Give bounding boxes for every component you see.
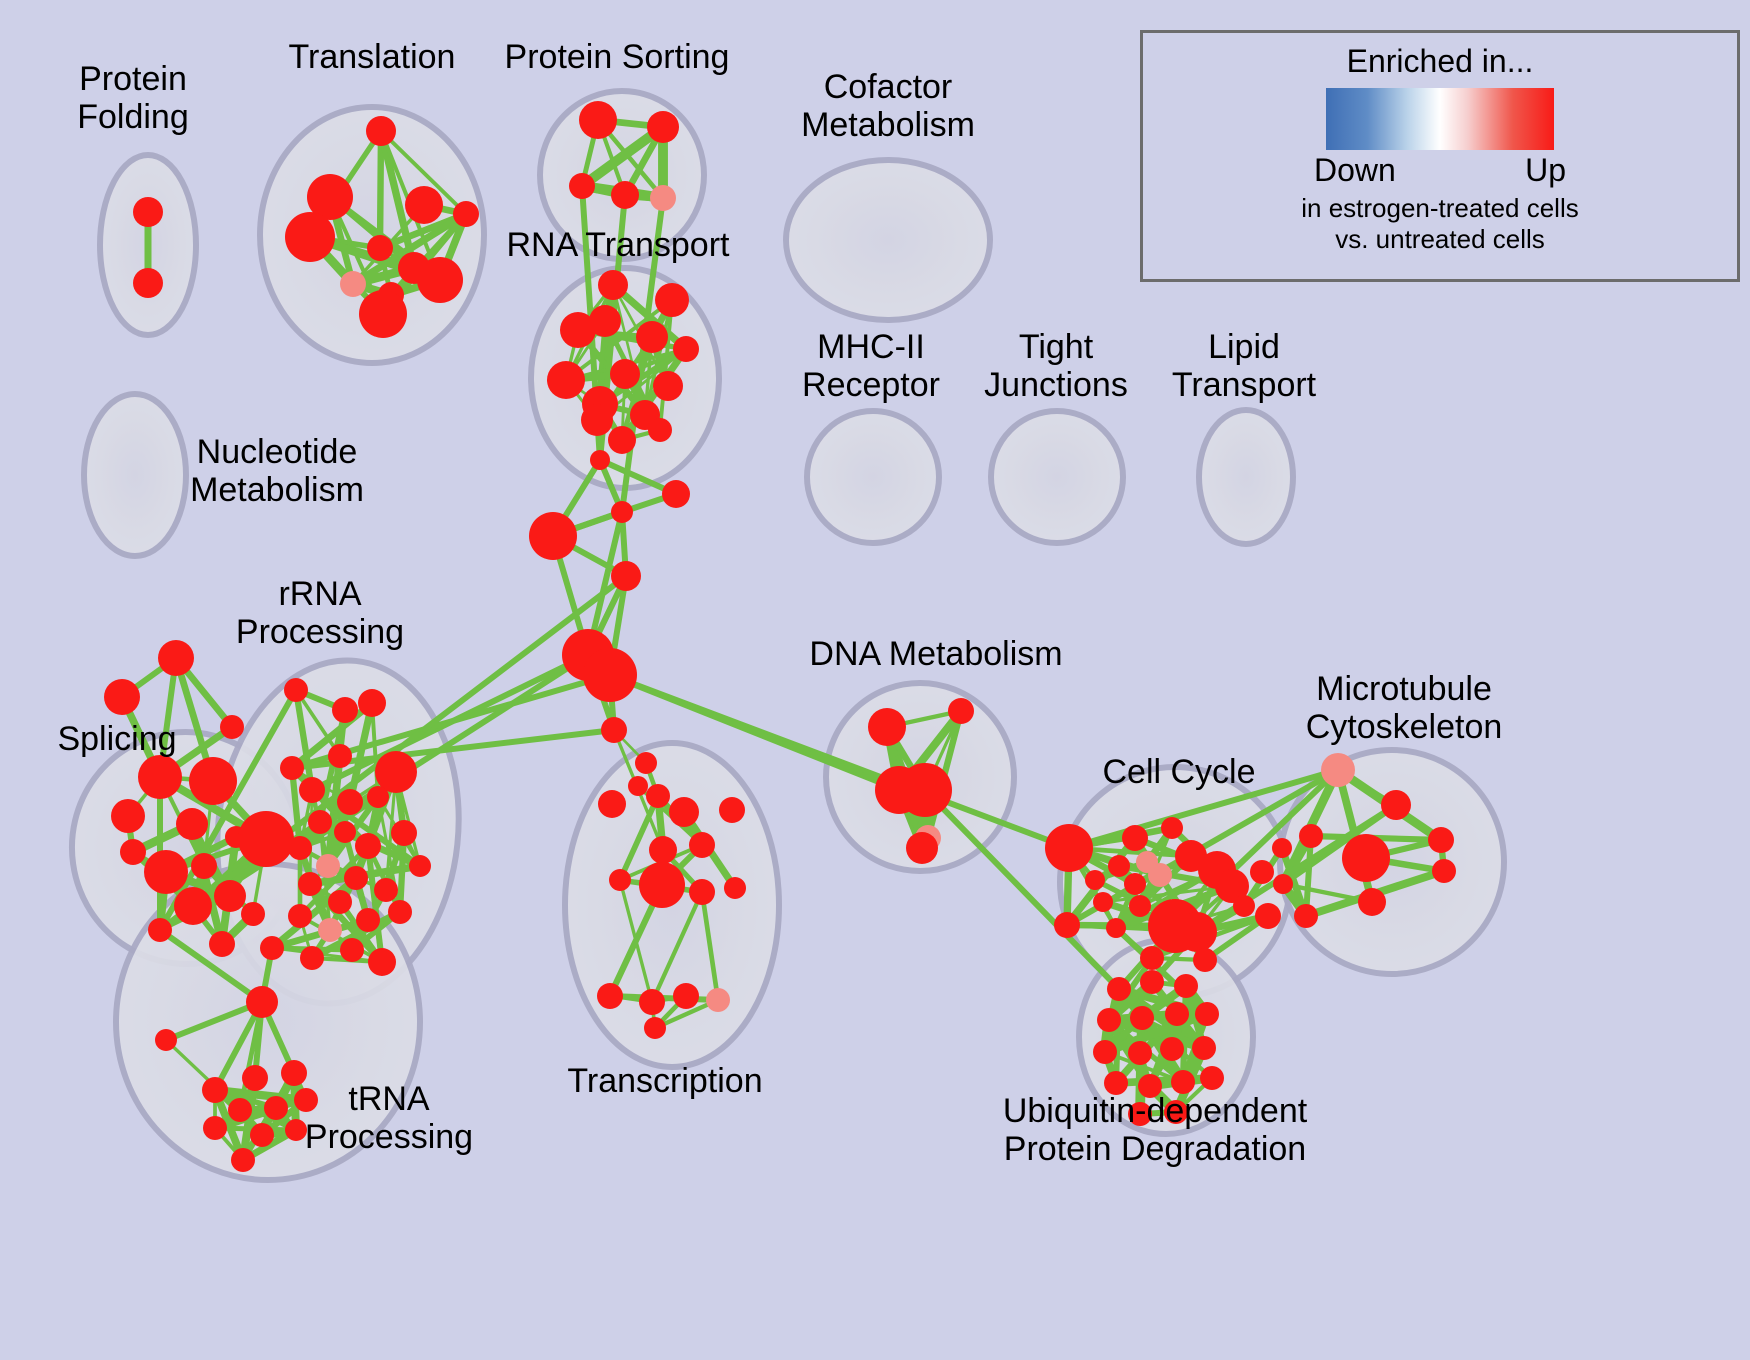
network-node[interactable]	[1097, 1008, 1121, 1032]
network-node[interactable]	[138, 755, 182, 799]
legend-endpoints: Down Up	[1314, 152, 1566, 189]
network-node[interactable]	[868, 708, 906, 746]
network-node[interactable]	[646, 784, 670, 808]
network-node[interactable]	[1093, 892, 1113, 912]
network-node[interactable]	[662, 480, 690, 508]
network-node[interactable]	[1140, 970, 1164, 994]
network-node[interactable]	[453, 201, 479, 227]
network-node[interactable]	[260, 936, 284, 960]
network-node[interactable]	[647, 111, 679, 143]
network-node[interactable]	[608, 426, 636, 454]
network-node[interactable]	[318, 918, 342, 942]
legend-down-label: Down	[1314, 152, 1396, 189]
network-node[interactable]	[189, 757, 237, 805]
network-node[interactable]	[367, 235, 393, 261]
cluster-label-trna-processing: tRNAProcessing	[305, 1080, 473, 1156]
network-node[interactable]	[589, 305, 621, 337]
network-node[interactable]	[689, 879, 715, 905]
network-node[interactable]	[1321, 753, 1355, 787]
network-node[interactable]	[609, 869, 631, 891]
cluster-label-cell-cycle: Cell Cycle	[1102, 753, 1255, 791]
cluster-hull	[84, 394, 186, 556]
network-node[interactable]	[367, 786, 389, 808]
network-node[interactable]	[391, 820, 417, 846]
network-node[interactable]	[280, 756, 304, 780]
network-node[interactable]	[203, 1116, 227, 1140]
network-node[interactable]	[639, 989, 665, 1015]
network-node[interactable]	[1177, 912, 1217, 952]
network-node[interactable]	[155, 1029, 177, 1051]
network-node[interactable]	[344, 866, 368, 890]
network-node[interactable]	[547, 361, 585, 399]
network-node[interactable]	[1192, 1036, 1216, 1060]
network-node[interactable]	[579, 101, 617, 139]
network-node[interactable]	[246, 986, 278, 1018]
network-node[interactable]	[191, 853, 217, 879]
cluster-label-ubiquitin-protein-degradation: Ubiquitin-dependentProtein Degradation	[1003, 1092, 1307, 1168]
network-node[interactable]	[368, 948, 396, 976]
network-node[interactable]	[1428, 827, 1454, 853]
network-node[interactable]	[1250, 860, 1274, 884]
legend-color-gradient	[1326, 88, 1554, 150]
network-node[interactable]	[366, 116, 396, 146]
network-node[interactable]	[340, 271, 366, 297]
network-node[interactable]	[689, 832, 715, 858]
network-node[interactable]	[328, 890, 352, 914]
cluster-hull	[807, 411, 939, 543]
network-node[interactable]	[898, 763, 952, 817]
network-node[interactable]	[209, 931, 235, 957]
network-node[interactable]	[1193, 948, 1217, 972]
network-node[interactable]	[1171, 1070, 1195, 1094]
network-node[interactable]	[214, 880, 246, 912]
legend-up-label: Up	[1525, 152, 1566, 189]
cluster-hull	[1199, 410, 1293, 544]
network-node[interactable]	[409, 855, 431, 877]
network-node[interactable]	[285, 212, 335, 262]
network-node[interactable]	[1381, 790, 1411, 820]
network-node[interactable]	[724, 877, 746, 899]
network-node[interactable]	[673, 983, 699, 1009]
network-node[interactable]	[639, 862, 685, 908]
network-node[interactable]	[337, 789, 363, 815]
cluster-label-microtubule-cytoskeleton: MicrotubuleCytoskeleton	[1306, 670, 1503, 746]
network-node[interactable]	[299, 777, 325, 803]
network-node[interactable]	[673, 336, 699, 362]
network-node[interactable]	[644, 1017, 666, 1039]
network-node[interactable]	[332, 697, 358, 723]
cluster-label-mhc-ii-receptor: MHC-IIReceptor	[802, 328, 940, 404]
enrichment-map-figure: ProteinFoldingTranslationProtein Sorting…	[0, 0, 1750, 1360]
network-node[interactable]	[610, 359, 640, 389]
network-node[interactable]	[628, 776, 648, 796]
network-node[interactable]	[948, 698, 974, 724]
network-node[interactable]	[111, 799, 145, 833]
network-node[interactable]	[1432, 859, 1456, 883]
network-node[interactable]	[1233, 895, 1255, 917]
cluster-label-splicing: Splicing	[57, 720, 176, 758]
cluster-label-protein-folding: ProteinFolding	[77, 60, 189, 136]
network-node[interactable]	[1342, 834, 1390, 882]
legend-box: Enriched in... Down Up in estrogen-treat…	[1140, 30, 1740, 282]
network-node[interactable]	[238, 811, 294, 867]
network-node[interactable]	[1299, 824, 1323, 848]
network-node[interactable]	[405, 186, 443, 224]
network-node[interactable]	[581, 404, 613, 436]
network-node[interactable]	[1130, 1006, 1154, 1030]
network-node[interactable]	[1045, 824, 1093, 872]
network-node[interactable]	[374, 878, 398, 902]
network-node[interactable]	[284, 678, 308, 702]
network-node[interactable]	[597, 983, 623, 1009]
network-node[interactable]	[120, 839, 146, 865]
network-node[interactable]	[1129, 895, 1151, 917]
network-node[interactable]	[355, 833, 381, 859]
network-node[interactable]	[1124, 873, 1146, 895]
network-node[interactable]	[1106, 918, 1126, 938]
network-node[interactable]	[359, 290, 407, 338]
cluster-label-dna-metabolism: DNA Metabolism	[809, 635, 1062, 673]
network-node[interactable]	[706, 988, 730, 1012]
cluster-label-protein-sorting: Protein Sorting	[505, 38, 730, 76]
network-node[interactable]	[340, 938, 364, 962]
network-node[interactable]	[906, 832, 938, 864]
legend-caption-line-1: in estrogen-treated cells	[1301, 193, 1578, 224]
cluster-label-transcription: Transcription	[567, 1062, 762, 1100]
network-node[interactable]	[1160, 1037, 1184, 1061]
network-node[interactable]	[202, 1077, 228, 1103]
network-node[interactable]	[1161, 817, 1183, 839]
network-node[interactable]	[174, 887, 212, 925]
legend-caption-line-2: vs. untreated cells	[1335, 224, 1545, 255]
cluster-label-translation: Translation	[289, 38, 456, 76]
network-node[interactable]	[220, 715, 244, 739]
network-edge	[380, 131, 381, 248]
network-node[interactable]	[649, 836, 677, 864]
network-node[interactable]	[1165, 1002, 1189, 1026]
network-node[interactable]	[1272, 838, 1292, 858]
network-node[interactable]	[1200, 1066, 1224, 1090]
network-node[interactable]	[569, 173, 595, 199]
cluster-hull	[991, 411, 1123, 543]
network-node[interactable]	[288, 836, 312, 860]
network-node[interactable]	[1294, 904, 1318, 928]
network-node[interactable]	[1140, 946, 1164, 970]
cluster-label-rna-transport: RNA Transport	[507, 226, 730, 264]
network-node[interactable]	[328, 744, 352, 768]
network-node[interactable]	[1085, 870, 1105, 890]
network-node[interactable]	[356, 908, 380, 932]
network-node[interactable]	[144, 850, 188, 894]
network-node[interactable]	[648, 418, 672, 442]
network-node[interactable]	[228, 1098, 252, 1122]
network-node[interactable]	[300, 946, 324, 970]
network-node[interactable]	[242, 1065, 268, 1091]
network-node[interactable]	[611, 561, 641, 591]
network-node[interactable]	[281, 1060, 307, 1086]
network-node[interactable]	[288, 904, 312, 928]
network-node[interactable]	[358, 689, 386, 717]
network-node[interactable]	[611, 501, 633, 523]
legend-title: Enriched in...	[1347, 43, 1534, 80]
cluster-label-tight-junctions: TightJunctions	[984, 328, 1128, 404]
network-node[interactable]	[176, 808, 208, 840]
network-node[interactable]	[598, 270, 628, 300]
network-node[interactable]	[611, 181, 639, 209]
network-node[interactable]	[1054, 912, 1080, 938]
network-node[interactable]	[264, 1096, 288, 1120]
network-node[interactable]	[250, 1123, 274, 1147]
network-node[interactable]	[241, 902, 265, 926]
network-node[interactable]	[285, 1119, 307, 1141]
network-node[interactable]	[417, 257, 463, 303]
cluster-label-nucleotide-metabolism: NucleotideMetabolism	[190, 433, 364, 509]
network-node[interactable]	[1093, 1040, 1117, 1064]
network-node[interactable]	[1108, 855, 1130, 877]
network-node[interactable]	[1107, 977, 1131, 1001]
network-node[interactable]	[104, 679, 140, 715]
network-node[interactable]	[133, 268, 163, 298]
network-node[interactable]	[148, 918, 172, 942]
network-node[interactable]	[719, 797, 745, 823]
cluster-hull	[786, 160, 990, 320]
network-node[interactable]	[1122, 825, 1148, 851]
network-node[interactable]	[334, 821, 356, 843]
network-node[interactable]	[388, 900, 412, 924]
network-node[interactable]	[650, 185, 676, 211]
network-node[interactable]	[1174, 974, 1198, 998]
cluster-label-rrna-processing: rRNAProcessing	[236, 575, 404, 651]
network-node[interactable]	[158, 640, 194, 676]
cluster-label-cofactor-metabolism: CofactorMetabolism	[801, 68, 975, 144]
network-node[interactable]	[1255, 903, 1281, 929]
network-node[interactable]	[316, 854, 340, 878]
network-node[interactable]	[598, 790, 626, 818]
network-node[interactable]	[583, 648, 637, 702]
network-node[interactable]	[308, 810, 332, 834]
network-node[interactable]	[590, 450, 610, 470]
network-node[interactable]	[231, 1148, 255, 1172]
network-node[interactable]	[1148, 863, 1172, 887]
network-node[interactable]	[1273, 874, 1293, 894]
cluster-label-lipid-transport: LipidTransport	[1172, 328, 1316, 404]
network-node[interactable]	[636, 321, 668, 353]
network-node[interactable]	[133, 197, 163, 227]
network-node[interactable]	[653, 371, 683, 401]
network-node[interactable]	[655, 283, 689, 317]
network-node[interactable]	[1128, 1041, 1152, 1065]
network-node[interactable]	[529, 512, 577, 560]
network-node[interactable]	[298, 872, 322, 896]
network-node[interactable]	[635, 752, 657, 774]
network-node[interactable]	[669, 797, 699, 827]
network-node[interactable]	[1195, 1002, 1219, 1026]
network-node[interactable]	[601, 717, 627, 743]
network-node[interactable]	[1358, 888, 1386, 916]
